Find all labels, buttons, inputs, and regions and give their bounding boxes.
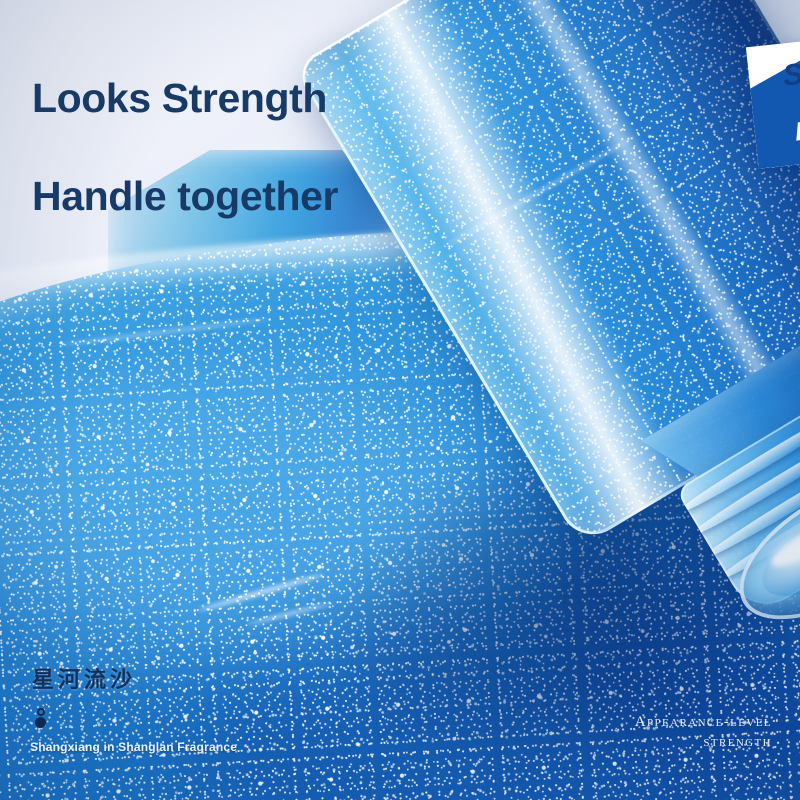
droplet-mark-dot [35,717,46,728]
headline-block: Looks Strength Handle together [32,78,462,217]
brand-block: 星河流沙 Shangxiang in Shanglan Fragrance [30,662,237,754]
headline-line-2: Handle together [32,176,462,217]
tagline-block: Appearance-level strength [635,712,772,753]
tagline-line-2: strength [635,732,772,752]
brand-name-chinese: 星河流沙 [32,662,237,694]
sticker-letter-top: S [781,58,800,94]
brand-name-english: Shangxiang in Shanglan Fragrance [30,740,237,754]
droplet-mark-icon [34,708,48,728]
headline-line-1: Looks Strength [32,78,462,119]
droplet-mark-ring [37,708,45,716]
tagline-line-1: Appearance-level [635,712,772,732]
poster-canvas: S L Looks Strength Handle together 星河流沙 … [0,0,800,800]
